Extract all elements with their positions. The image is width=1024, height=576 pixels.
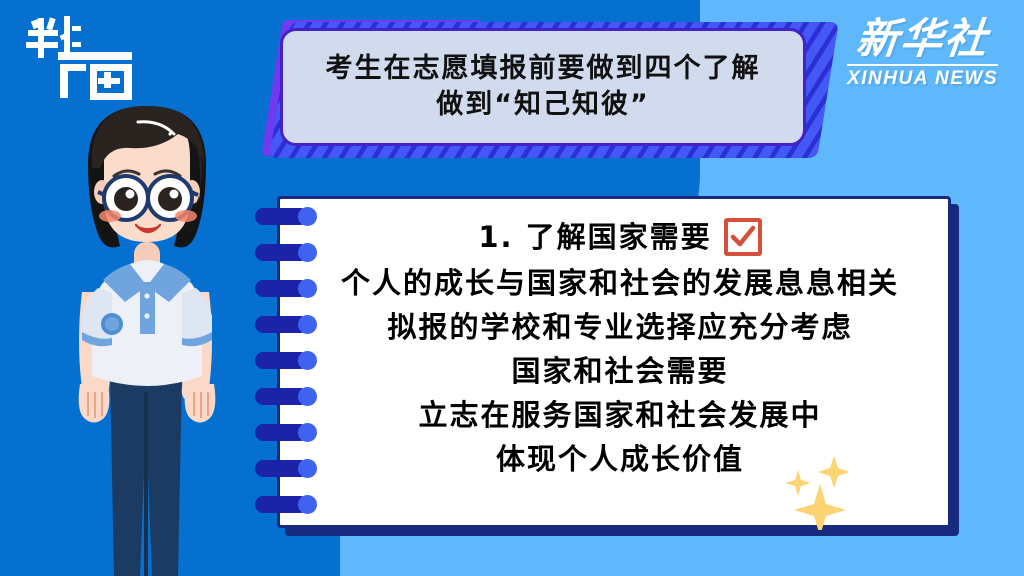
spiral-binding <box>255 196 325 528</box>
spiral-ring-cap <box>298 423 317 442</box>
spiral-ring <box>255 352 317 369</box>
poster-root: 新华社 XINHUA NEWS 考生在志愿填报前要做到四个了解 做到“知己知彼” <box>0 0 1024 576</box>
spiral-ring <box>255 280 317 297</box>
spiral-ring-cap <box>298 495 317 514</box>
spiral-ring <box>255 496 317 513</box>
card-text-block: 1. 了解国家需要 个人的成长与国家和社会的发展息息相关 拟报的学校和专业选择应… <box>320 215 920 481</box>
spiral-ring <box>255 208 317 225</box>
spiral-ring <box>255 388 317 405</box>
card-line-5: 体现个人成长价值 <box>320 437 920 481</box>
spiral-ring <box>255 244 317 261</box>
spiral-ring <box>255 460 317 477</box>
spiral-ring <box>255 424 317 441</box>
spiral-ring-cap <box>298 315 317 334</box>
student-girl-illustration <box>42 92 252 576</box>
content-card: 1. 了解国家需要 个人的成长与国家和社会的发展息息相关 拟报的学校和专业选择应… <box>277 196 951 528</box>
card-line-1: 个人的成长与国家和社会的发展息息相关 <box>320 261 920 305</box>
card-line-2: 拟报的学校和专业选择应充分考虑 <box>320 305 920 349</box>
spiral-ring-cap <box>298 279 317 298</box>
banner-panel: 考生在志愿填报前要做到四个了解 做到“知己知彼” <box>280 28 806 146</box>
kehua-logo <box>24 14 134 102</box>
banner-title-line-2: 做到“知己知彼” <box>436 87 650 123</box>
card-line-3: 国家和社会需要 <box>320 349 920 393</box>
checkbox-checked-icon[interactable] <box>724 218 762 256</box>
spiral-ring-cap <box>298 387 317 406</box>
spiral-ring-cap <box>298 351 317 370</box>
spiral-ring-cap <box>298 243 317 262</box>
spiral-ring <box>255 316 317 333</box>
xinhua-logo-divider <box>847 64 998 66</box>
spiral-ring-cap <box>298 459 317 478</box>
card-line-4: 立志在服务国家和社会发展中 <box>320 393 920 437</box>
card-heading-row: 1. 了解国家需要 <box>320 215 920 259</box>
xinhua-news-logo: 新华社 XINHUA NEWS <box>847 18 998 88</box>
title-banner: 考生在志愿填报前要做到四个了解 做到“知己知彼” <box>266 12 836 160</box>
xinhua-logo-cn: 新华社 <box>845 18 1000 60</box>
card-heading: 1. 了解国家需要 <box>478 215 711 259</box>
xinhua-logo-en: XINHUA NEWS <box>847 69 998 88</box>
spiral-ring-cap <box>298 207 317 226</box>
banner-title-line-1: 考生在志愿填报前要做到四个了解 <box>326 51 761 87</box>
